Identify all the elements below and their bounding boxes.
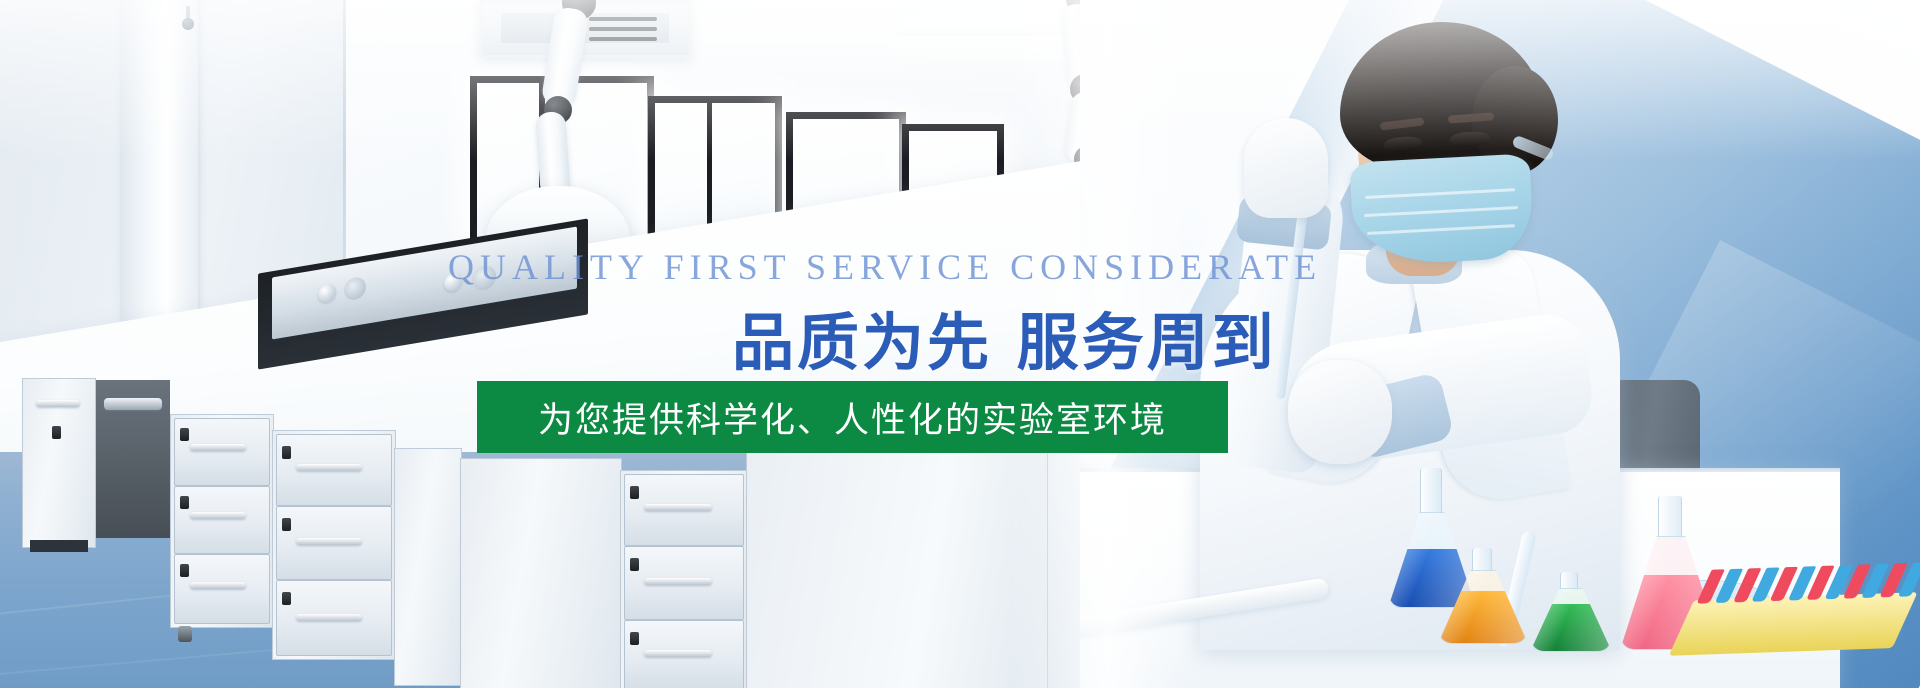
drawer-lock-icon	[180, 496, 189, 509]
drawer-lock-icon	[282, 592, 291, 605]
drawer-handle	[644, 504, 712, 511]
cabinet-run	[746, 452, 1048, 688]
drawer-handle	[190, 512, 246, 519]
drawer-lock-icon	[630, 486, 639, 499]
drawer-handle	[190, 444, 246, 451]
erlenmeyer-flask-green	[1524, 572, 1616, 652]
green-subtitle-bar: 为您提供科学化、人性化的实验室环境	[477, 381, 1228, 453]
drawer-handle	[190, 582, 246, 589]
drawer-handle	[104, 398, 162, 410]
erlenmeyer-flask-orange	[1432, 548, 1532, 644]
drawer-handle	[296, 614, 362, 621]
chinese-subtitle: 为您提供科学化、人性化的实验室环境	[538, 392, 1167, 443]
pipette-tip-rack	[1669, 562, 1920, 656]
cabinet-handle	[36, 400, 80, 407]
drawer-lock-icon	[180, 428, 189, 441]
drawer-lock-icon	[282, 518, 291, 531]
chinese-headline: 品质为先 服务周到	[732, 292, 1277, 382]
drawer-handle	[296, 538, 362, 545]
cabinet-base	[30, 540, 88, 552]
cabinet-side-panel	[394, 448, 462, 686]
drawer-handle	[296, 464, 362, 471]
drawer-lock-icon	[630, 632, 639, 645]
lab-hero-banner: QUALITY FIRST SERVICE CONSIDERATE 品质为先 服…	[0, 0, 1920, 688]
grey-cabinet	[460, 458, 622, 688]
latex-glove	[1244, 118, 1328, 218]
english-tagline: QUALITY FIRST SERVICE CONSIDERATE	[448, 246, 1322, 288]
drawer-handle	[644, 578, 712, 585]
drawer-lock-icon	[630, 558, 639, 571]
fire-sprinkler-icon	[182, 18, 194, 30]
drawer-handle	[644, 650, 712, 657]
latex-glove	[1288, 360, 1392, 464]
drawer-lock-icon	[180, 564, 189, 577]
drawer-lock-icon	[282, 446, 291, 459]
cabinet-caster	[178, 626, 192, 642]
cabinet-lock-icon	[52, 426, 61, 439]
